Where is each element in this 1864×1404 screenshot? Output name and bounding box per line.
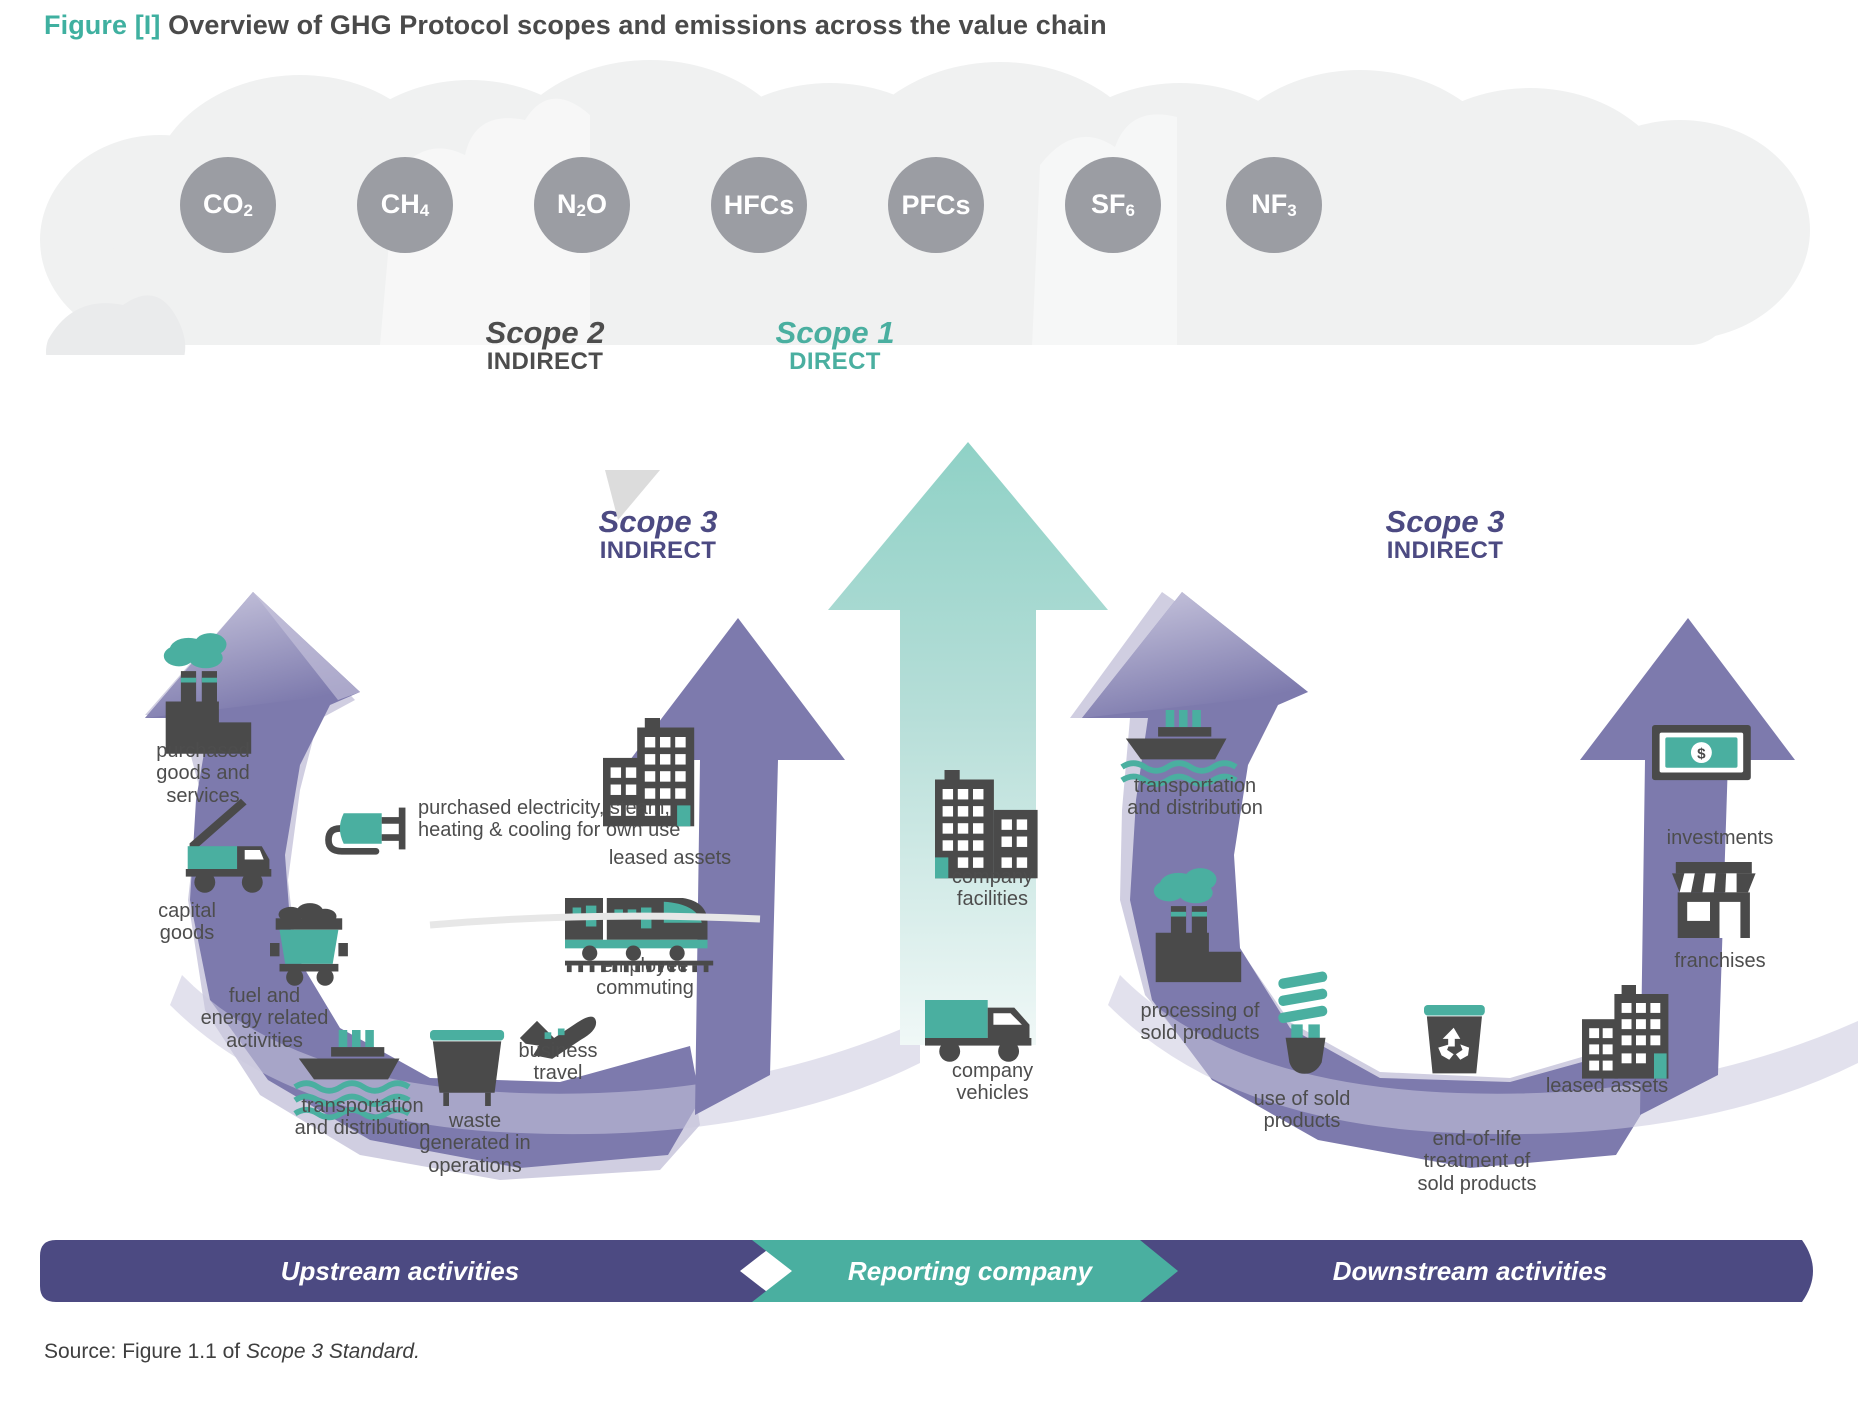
label-business-travel: business travel bbox=[498, 1040, 618, 1085]
shop-icon bbox=[1672, 862, 1756, 938]
scope-2-arrow bbox=[605, 470, 660, 520]
scope-1-arrow bbox=[828, 442, 1108, 1045]
label-upstream-leased-assets: leased assets bbox=[580, 847, 760, 869]
banner-reporting-label: Reporting company bbox=[848, 1256, 1094, 1286]
label-waste: waste generated in operations bbox=[400, 1110, 550, 1177]
source-note: Source: Figure 1.1 of Scope 3 Standard. bbox=[44, 1340, 420, 1364]
label-investments: investments bbox=[1630, 827, 1810, 849]
delivery-truck-icon bbox=[925, 1000, 1031, 1062]
recycle-bin-icon bbox=[1424, 1005, 1485, 1073]
source-prefix: Source: Figure 1.1 of bbox=[44, 1340, 246, 1363]
source-italic: Scope 3 Standard. bbox=[246, 1340, 420, 1363]
label-downstream-transportation: transportation and distribution bbox=[1100, 775, 1290, 820]
banner-upstream-label: Upstream activities bbox=[281, 1256, 519, 1286]
label-franchises: franchises bbox=[1640, 950, 1800, 972]
label-end-of-life: end-of-life treatment of sold products bbox=[1382, 1128, 1572, 1195]
label-company-vehicles: company vehicles bbox=[915, 1060, 1070, 1105]
label-use-of-sold-products: use of sold products bbox=[1222, 1088, 1382, 1133]
money-icon: $ bbox=[1652, 725, 1751, 780]
label-company-facilities: company facilities bbox=[915, 866, 1070, 911]
label-fuel-energy: fuel and energy related activities bbox=[172, 985, 357, 1052]
label-employee-commuting: employee commuting bbox=[560, 955, 730, 1000]
label-capital-goods: capital goods bbox=[132, 900, 242, 945]
value-chain-diagram: $ bbox=[0, 0, 1864, 1404]
label-purchased-electricity: purchased electricity, steam, heating & … bbox=[418, 797, 718, 842]
value-chain-banner: Upstream activities Reporting company Do… bbox=[40, 1240, 1824, 1302]
plug-icon bbox=[329, 808, 406, 852]
label-processing-sold-products: processing of sold products bbox=[1110, 1000, 1290, 1045]
svg-text:$: $ bbox=[1697, 745, 1706, 762]
label-purchased-goods: purchased goods and services bbox=[128, 740, 278, 807]
office-buildings-icon-downstream bbox=[1582, 985, 1668, 1079]
label-downstream-leased-assets: leased assets bbox=[1512, 1075, 1702, 1097]
banner-downstream-label: Downstream activities bbox=[1333, 1256, 1608, 1286]
